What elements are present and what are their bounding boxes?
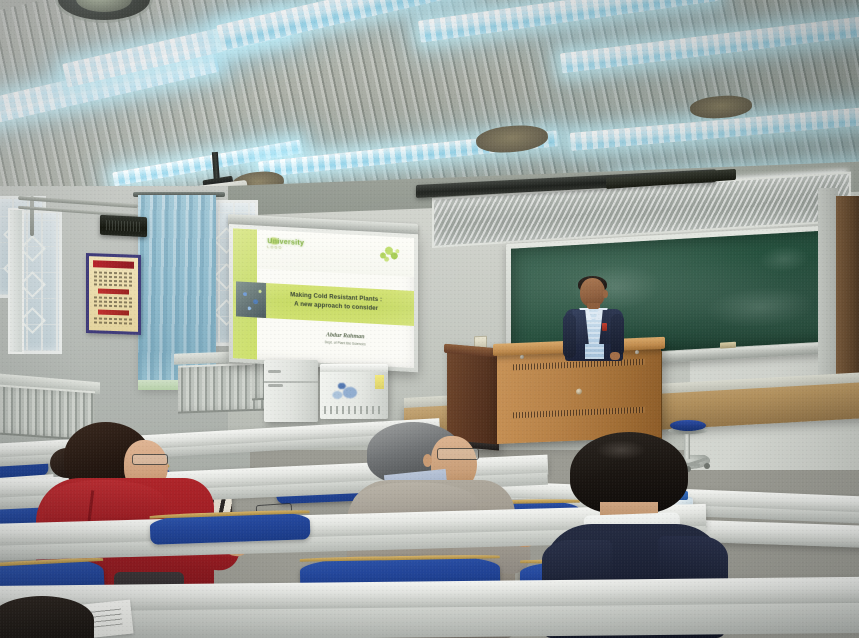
slide-author-block: Abdur Rahman Dept. of Plant Bio Sciences <box>287 330 403 348</box>
presenter <box>563 278 625 360</box>
leaf-graphic-icon <box>377 245 401 263</box>
wooden-cabinet <box>836 196 859 396</box>
wall-speaker-icon <box>100 215 147 237</box>
presentation-slide: University LOGO Making Cold Resistant Pl… <box>233 228 414 368</box>
chalk-box <box>720 342 736 349</box>
presenter-ear <box>603 290 608 298</box>
lecture-hall-photo: University LOGO Making Cold Resistant Pl… <box>0 0 859 638</box>
door-jamb <box>818 188 838 398</box>
wall-pipe-1 <box>30 196 34 236</box>
presenter-arm-left <box>563 314 576 358</box>
presenter-badge <box>602 323 607 331</box>
slide-thumbnail-image <box>236 282 267 319</box>
audience-3-hair-highlight <box>596 440 646 460</box>
presenter-arm-right <box>611 314 624 356</box>
lab-stool[interactable] <box>670 420 706 431</box>
presenter-hand <box>610 352 620 360</box>
eyeglasses-icon <box>132 454 168 465</box>
audience-1-shoulder <box>44 480 164 520</box>
audience-person-foreground <box>0 596 100 638</box>
projection-screen: University LOGO Making Cold Resistant Pl… <box>229 224 418 372</box>
window-open-pane[interactable] <box>8 208 24 354</box>
notice-poster <box>86 253 141 335</box>
audience-2-ear <box>423 454 432 467</box>
chest-freezer <box>320 364 388 419</box>
refrigerator <box>264 360 318 422</box>
eyeglasses-icon <box>437 448 479 460</box>
slide-logo-text: University LOGO <box>267 238 304 251</box>
seat-6[interactable] <box>150 509 311 545</box>
audience-4-hair <box>0 596 94 638</box>
